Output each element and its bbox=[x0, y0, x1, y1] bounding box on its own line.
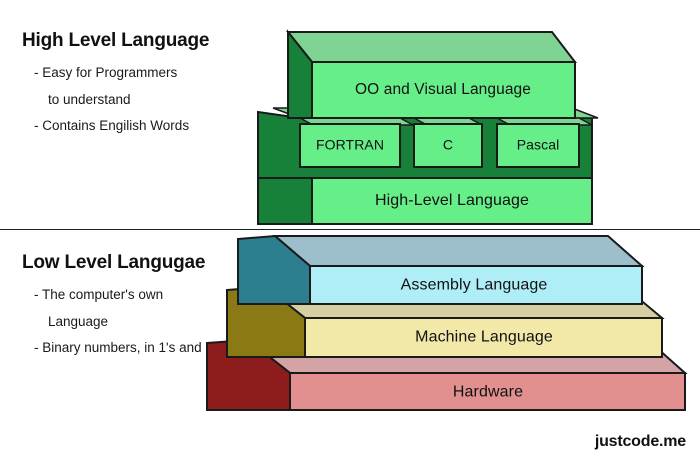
watermark-justcode: justcode.me bbox=[595, 433, 686, 451]
fortran-label: FORTRAN bbox=[316, 137, 384, 153]
machine-language-label: Machine Language bbox=[415, 329, 553, 346]
assembly-language-label: Assembly Language bbox=[401, 277, 548, 294]
pyramid-block-c[interactable]: C bbox=[414, 118, 482, 167]
pyramid-layer-oo-visual[interactable]: OO and Visual Language bbox=[288, 32, 575, 118]
hardware-label: Hardware bbox=[453, 384, 523, 401]
high-level-side-face bbox=[258, 173, 312, 224]
pyramid-block-pascal[interactable]: Pascal bbox=[497, 118, 592, 167]
oo-visual-language-label: OO and Visual Language bbox=[355, 81, 531, 98]
oo-visual-top-face bbox=[288, 32, 575, 62]
language-levels-pyramid: Hardware Machine Language Assembly Langu… bbox=[0, 0, 700, 463]
pascal-label: Pascal bbox=[517, 137, 560, 153]
pyramid-block-fortran[interactable]: FORTRAN bbox=[300, 118, 413, 167]
c-label: C bbox=[443, 137, 453, 153]
pyramid-layer-assembly-language[interactable]: Assembly Language bbox=[238, 236, 642, 304]
diagram-canvas: High Level Language - Easy for Programme… bbox=[0, 0, 700, 463]
assembly-top-face bbox=[275, 236, 642, 266]
high-level-language-label: High-Level Language bbox=[375, 192, 529, 209]
